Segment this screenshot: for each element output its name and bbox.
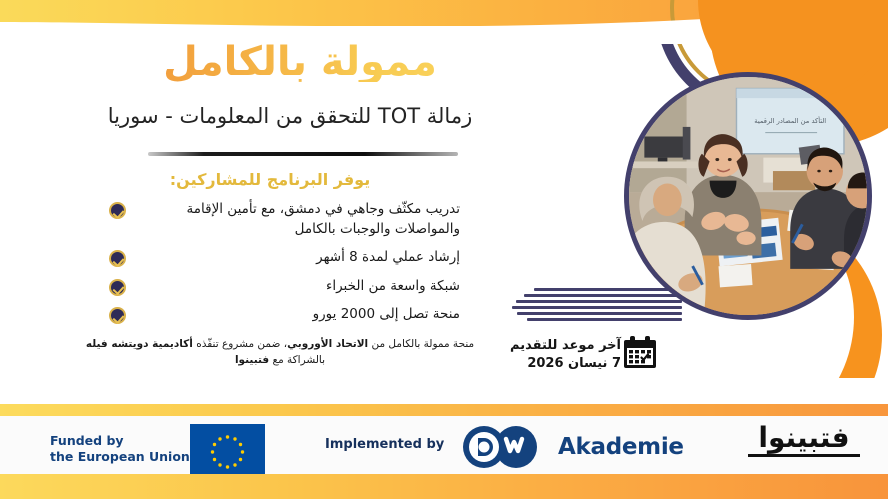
list-item: منحة تصل إلى 2000 يورو	[100, 305, 460, 325]
page-title: ممولة بالكامل	[60, 42, 540, 82]
dw-akademie-name: Akademie	[558, 434, 684, 460]
svg-text:التأكد من المصادر الرقمية: التأكد من المصادر الرقمية	[754, 116, 826, 125]
funding-note-line1: منحة ممولة بالكامل من الاتحاد الأوروبي، …	[60, 336, 500, 352]
implemented-by-label: Implemented by	[325, 437, 444, 452]
eu-funding-line1: Funded by	[50, 433, 190, 449]
workshop-photo-illustration: التأكد من المصادر الرقمية	[629, 77, 867, 315]
eu-funding-text: Funded by the European Union	[50, 433, 190, 464]
workshop-photo: التأكد من المصادر الرقمية	[624, 72, 872, 320]
funder-name: الاتحاد الأوروبي	[287, 338, 368, 350]
eu-flag-icon	[190, 424, 265, 474]
divider	[148, 152, 458, 156]
deadline-label: آخر موعد للتقديم	[510, 337, 621, 355]
poster-canvas: التأكد من المصادر الرقمية	[0, 0, 888, 499]
funding-note-text-2: ، ضمن مشروع تنفّذه	[193, 338, 287, 350]
funding-note: منحة ممولة بالكامل من الاتحاد الأوروبي، …	[60, 336, 500, 369]
bottom-gradient-band	[0, 474, 888, 499]
provides-label: يوفر البرنامج للمشاركين:	[40, 170, 500, 189]
list-item-label: إرشاد عملي لمدة 8 أشهر	[126, 248, 460, 268]
funding-note-line2: بالشراكة مع فتبينوا	[60, 352, 500, 368]
check-circle-icon	[109, 279, 126, 296]
list-item-label: شبكة واسعة من الخبراء	[126, 277, 460, 297]
funding-note-text-3: بالشراكة مع	[269, 354, 325, 366]
partner-name: فتبينوا	[235, 354, 269, 366]
list-item-label: منحة تصل إلى 2000 يورو	[126, 305, 460, 325]
mid-band-curve	[0, 378, 888, 404]
calendar-icon	[621, 334, 659, 376]
funding-note-text-1: منحة ممولة بالكامل من	[368, 338, 474, 350]
implementer-name: أكاديمية دويتشه فيله	[86, 338, 193, 350]
page-subtitle: زمالة TOT للتحقق من المعلومات - سوريا	[40, 103, 540, 129]
check-circle-icon	[109, 250, 126, 267]
deadline-text: آخر موعد للتقديم 7 نيسان 2026	[510, 337, 621, 372]
fatabyyano-underline	[748, 454, 860, 457]
list-item: شبكة واسعة من الخبراء	[100, 277, 460, 297]
fatabyyano-name: فتبينوا	[748, 424, 860, 452]
dw-logo-icon	[462, 425, 548, 469]
check-circle-icon	[109, 307, 126, 324]
list-item: إرشاد عملي لمدة 8 أشهر	[100, 248, 460, 268]
deadline-date: 7 نيسان 2026	[510, 355, 621, 373]
benefits-list: تدريب مكثّف وجاهي في دمشق، مع تأمين الإق…	[100, 200, 460, 334]
fatabyyano-logo: فتبينوا	[748, 424, 860, 457]
check-circle-icon	[109, 202, 126, 219]
deadline-block: آخر موعد للتقديم 7 نيسان 2026	[510, 330, 695, 380]
eu-funding-line2: the European Union	[50, 449, 190, 465]
list-item-label: تدريب مكثّف وجاهي في دمشق، مع تأمين الإق…	[126, 200, 460, 239]
eu-funding-logo: Funded by the European Union	[40, 424, 265, 474]
dw-akademie-logo: Akademie	[462, 425, 684, 469]
list-item: تدريب مكثّف وجاهي في دمشق، مع تأمين الإق…	[100, 200, 460, 239]
